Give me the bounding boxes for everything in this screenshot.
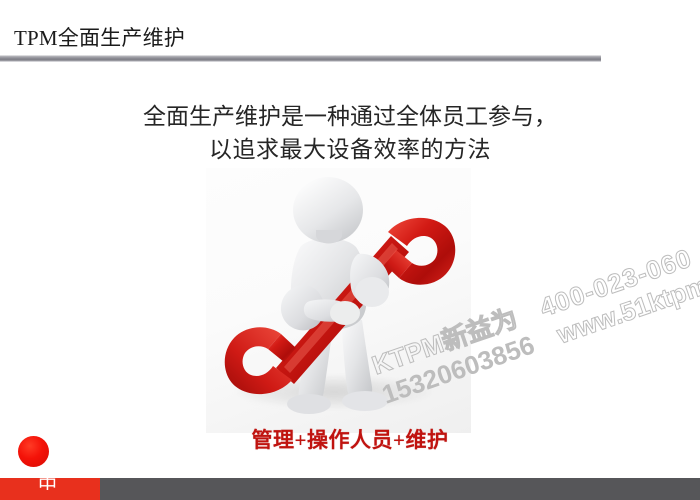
headline-line-2: 以追求最大设备效率的方法: [0, 133, 700, 166]
red-caption-text: 管理+操作人员+维护: [0, 427, 700, 454]
page-title: TPM全面生产维护: [14, 25, 185, 51]
slide-canvas: TPM全面生产维护 全面生产维护是一种通过全体员工参与， 以追求最大设备效率的方…: [0, 0, 700, 500]
watermark-hotline: 400-023-060: [536, 243, 696, 323]
title-divider: [0, 55, 602, 62]
watermark-website: www.51ktpm.com: [553, 250, 700, 350]
illustration-image: [206, 168, 471, 433]
headline-text: 全面生产维护是一种通过全体员工参与， 以追求最大设备效率的方法: [0, 100, 700, 166]
footer-bar-glyph: 中: [38, 476, 57, 490]
red-dot-icon: [18, 436, 49, 467]
footer-bar: 中: [0, 478, 700, 500]
wrench-figure-icon: [206, 168, 471, 433]
headline-line-1: 全面生产维护是一种通过全体员工参与，: [0, 100, 700, 133]
footer-bar-accent: 中: [0, 478, 100, 500]
